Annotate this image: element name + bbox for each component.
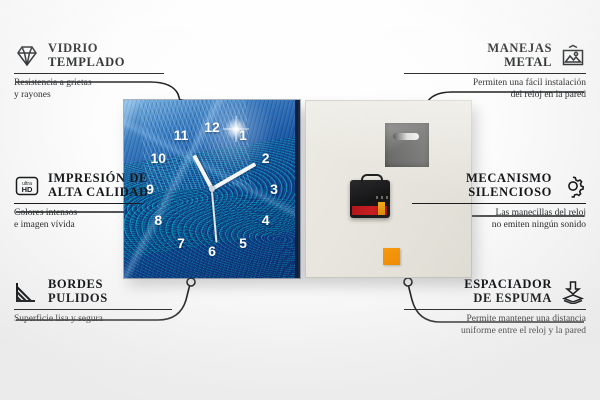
callout-title: BORDES PULIDOS: [48, 278, 108, 305]
callout-title: IMPRESIÓN DE ALTA CALIDAD: [48, 172, 149, 199]
callout-title: MANEJAS METAL: [487, 42, 552, 69]
callout-rule: [14, 309, 172, 310]
hanger-slot: [393, 133, 419, 140]
clock-center-pin: [209, 186, 215, 192]
callout-description: Colores intensos e imagen vívida: [14, 208, 194, 231]
callout-description: Resistencia a grietas y rayones: [14, 78, 184, 101]
ultra-hd-icon: ultra HD: [14, 174, 40, 198]
clock-numeral: 7: [177, 236, 185, 250]
clock-numeral: 6: [208, 244, 216, 258]
callout-rule: [412, 203, 586, 204]
clock-numeral: 2: [262, 151, 270, 165]
callout-description: Superficie lisa y segura: [14, 314, 189, 326]
clock-side-edge: [295, 100, 300, 278]
callout-rule: [404, 73, 586, 74]
clock-numeral: 3: [270, 182, 278, 196]
picture-frame-hanger-icon: [560, 44, 586, 68]
callout-rule: [14, 73, 164, 74]
callout-title: MECANISMO SILENCIOSO: [466, 172, 552, 199]
metal-hanger-plate: [385, 123, 429, 167]
mechanism-handle: [361, 174, 383, 185]
clock-numeral: 11: [174, 128, 189, 142]
clock-numeral: 4: [262, 213, 270, 227]
callout-espaciador-espuma: ESPACIADOR DE ESPUMA Permite mantener un…: [404, 278, 586, 337]
callout-mecanismo-silencioso: MECANISMO SILENCIOSO Las manecillas del …: [412, 172, 586, 231]
callout-title: VIDRIO TEMPLADO: [48, 42, 125, 69]
mechanism-red-label: [352, 206, 387, 215]
callout-description: Permite mantener una distancia uniforme …: [404, 314, 586, 337]
clock-numeral: 10: [151, 151, 167, 165]
svg-text:HD: HD: [22, 185, 33, 194]
callout-rule: [14, 203, 142, 204]
callout-title: ESPACIADOR DE ESPUMA: [464, 278, 552, 305]
gear-icon: [560, 174, 586, 198]
clock-mechanism-box: [350, 180, 390, 218]
callout-manejas-metal: MANEJAS METAL Permiten una fácil instala…: [404, 42, 586, 101]
foam-spacer-arrow-icon: [560, 280, 586, 304]
callout-rule: [404, 309, 586, 310]
infographic-canvas: 121234567891011: [0, 0, 600, 400]
clock-numeral: 5: [239, 236, 247, 250]
callout-description: Las manecillas del reloj no emiten ningú…: [412, 208, 586, 231]
callout-vidrio-templado: VIDRIO TEMPLADO Resistencia a grietas y …: [14, 42, 184, 101]
callout-description: Permiten una fácil instalación del reloj…: [404, 78, 586, 101]
callout-impresion-alta-calidad: ultra HD IMPRESIÓN DE ALTA CALIDAD Color…: [14, 172, 194, 231]
foam-spacer-pad: [383, 248, 400, 265]
clock-numeral: 1: [239, 128, 247, 142]
diamond-icon: [14, 44, 40, 68]
mechanism-detail: [376, 196, 388, 199]
polished-edge-icon: [14, 280, 40, 304]
callout-bordes-pulidos: BORDES PULIDOS Superficie lisa y segura: [14, 278, 189, 326]
clock-numeral: 12: [204, 120, 220, 134]
